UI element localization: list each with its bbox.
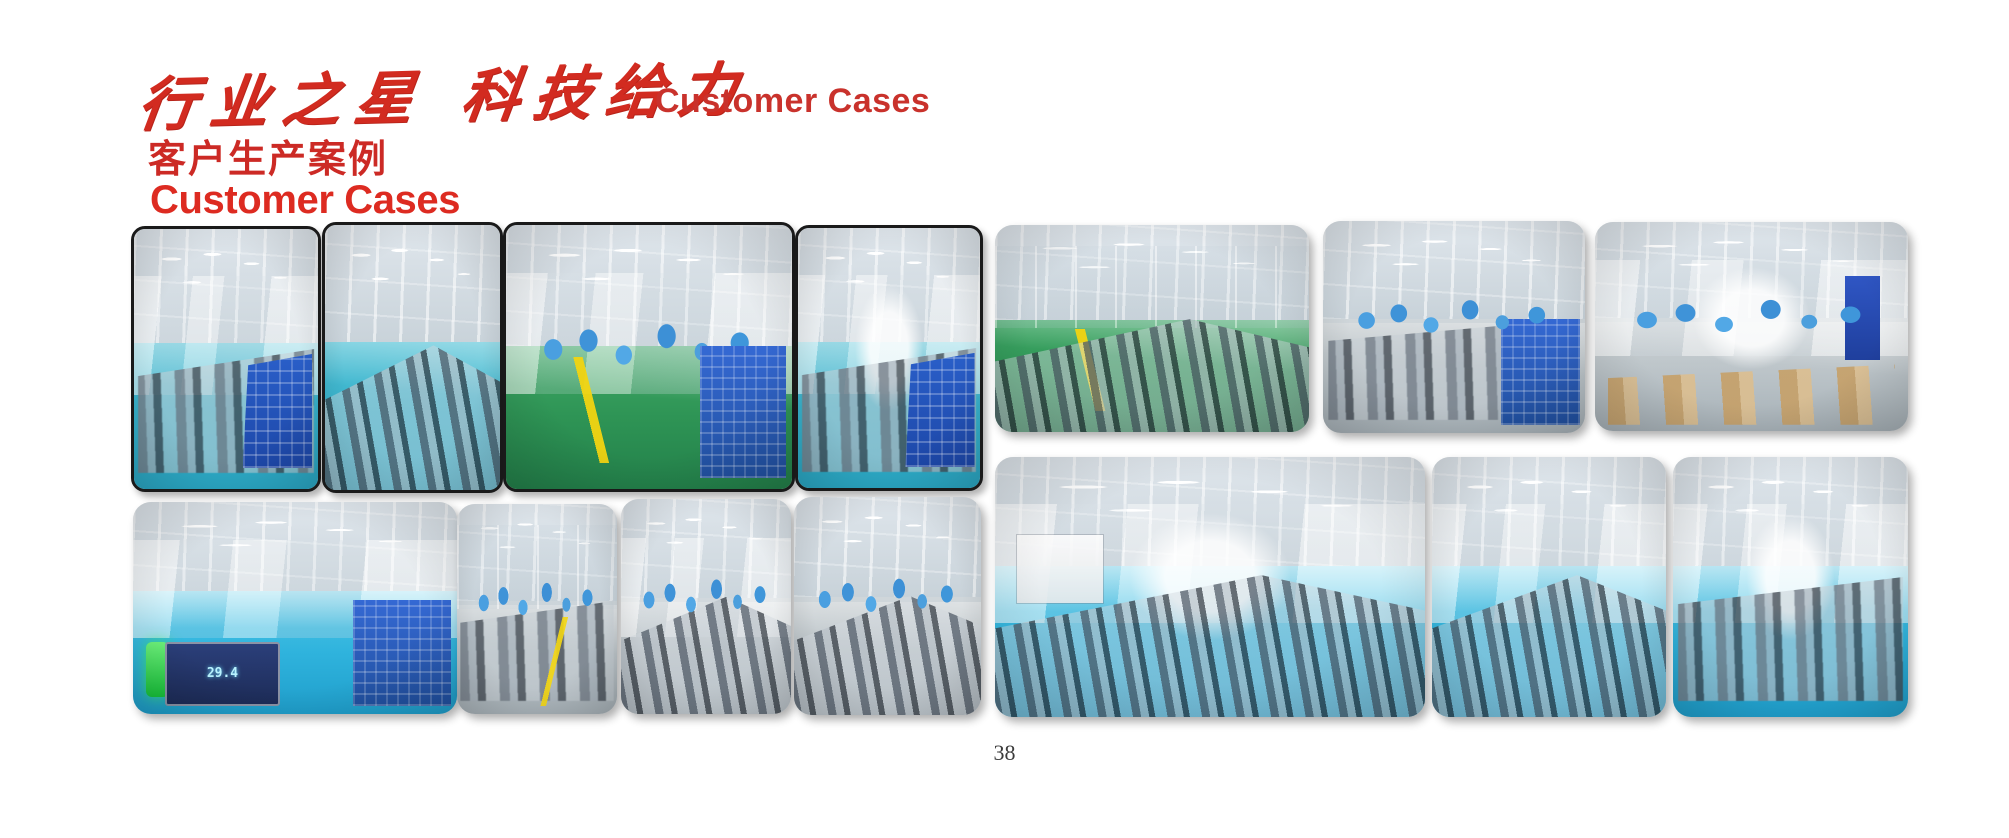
photo-conveyor-workshop (1673, 457, 1908, 717)
photo-machine-cabinet-row (1432, 457, 1666, 717)
photo-workers-green-floor (503, 222, 795, 492)
photo-scene (506, 225, 792, 489)
photo-production-floor-wide (794, 497, 981, 715)
subtitle-chinese: 客户生产案例 (148, 128, 388, 183)
photo-operators-machine-bank (621, 499, 791, 714)
photo-scene (621, 499, 791, 714)
photo-packing-area-crates (1323, 221, 1585, 433)
photo-stacked-crates-hmi: 29.4 (133, 502, 457, 714)
photo-cleanroom-green-floor-line (995, 225, 1309, 432)
photo-scene: 29.4 (133, 502, 457, 714)
header-english-label: Customer Cases (655, 82, 930, 121)
photo-scene (1673, 457, 1908, 717)
photo-scene (798, 228, 980, 488)
photo-scene (325, 225, 500, 490)
photo-scene (995, 225, 1309, 432)
photo-assembly-line-blue-floor (131, 226, 321, 492)
photo-scene (1595, 222, 1908, 431)
photo-worker-carrying-parts (457, 504, 617, 714)
slide-canvas: 行业之星 科技给力 Customer Cases 客户生产案例 Customer… (0, 0, 2009, 838)
subtitle-english: Customer Cases (150, 178, 460, 223)
photo-scene (134, 229, 318, 489)
photo-corridor-racks (795, 225, 983, 491)
photo-scene (457, 504, 617, 714)
photo-scene (1323, 221, 1585, 433)
photo-cleanroom-corridor-machines (995, 457, 1425, 717)
photo-warehouse-packing-hall (1595, 222, 1908, 431)
page-number: 38 (0, 740, 2009, 766)
photo-scene (794, 497, 981, 715)
photo-scene (995, 457, 1425, 717)
photo-machine-row-blue-aisle (322, 222, 503, 493)
photo-scene (1432, 457, 1666, 717)
